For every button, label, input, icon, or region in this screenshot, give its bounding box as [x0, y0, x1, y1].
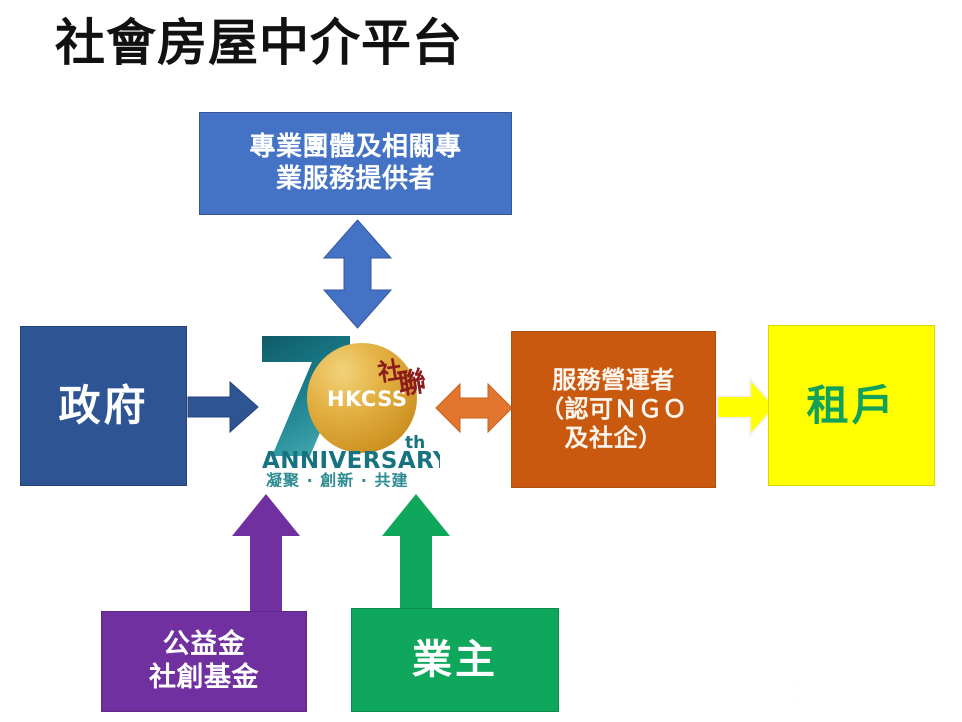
- node-professional-groups[interactable]: 專業團體及相關專 業服務提供者: [199, 112, 512, 215]
- node-service-operator[interactable]: 服務營運者 （認可ＮＧＯ 及社企）: [511, 331, 716, 488]
- arrow-funds-link: [230, 492, 302, 614]
- node-funds-text: 公益金 社創基金: [102, 629, 306, 695]
- node-government-text: 政府: [21, 380, 186, 431]
- node-tenants-label: 租戶: [775, 380, 928, 431]
- svg-text:聯: 聯: [396, 364, 429, 401]
- arrow-landlord-link: [380, 492, 452, 614]
- node-government-label: 政府: [27, 380, 180, 431]
- node-service-operator-line-3: 及社企）: [518, 424, 709, 453]
- node-landlords-text: 業主: [352, 636, 558, 685]
- node-funds-line-2: 社創基金: [108, 662, 300, 695]
- node-service-operator-text: 服務營運者 （認可ＮＧＯ 及社企）: [512, 366, 715, 454]
- node-landlords[interactable]: 業主: [351, 608, 559, 712]
- node-government[interactable]: 政府: [20, 326, 187, 486]
- watermark-am730: am730: [783, 664, 956, 720]
- node-tenants[interactable]: 租戶: [768, 325, 935, 486]
- diagram-canvas: 社會房屋中介平台 專業團體及相關專 業服務提供者 政府: [0, 0, 962, 722]
- node-service-operator-line-2: （認可ＮＧＯ: [518, 395, 709, 424]
- node-tenants-text: 租戶: [769, 380, 934, 431]
- hkcss-70th-anniversary-logo: HKCSS 社 聯 th ANNIVERSARY 凝聚 · 創新 · 共建: [254, 332, 440, 487]
- node-landlords-label: 業主: [358, 636, 552, 685]
- node-professional-groups-line-2: 業服務提供者: [206, 164, 505, 196]
- logo-slogan: 凝聚 · 創新 · 共建: [266, 471, 408, 487]
- arrow-operator-link: [434, 380, 514, 436]
- node-professional-groups-line-1: 專業團體及相關專: [206, 132, 505, 164]
- node-funds[interactable]: 公益金 社創基金: [101, 611, 307, 712]
- node-funds-line-1: 公益金: [108, 629, 300, 662]
- node-professional-groups-text: 專業團體及相關專 業服務提供者: [200, 132, 511, 195]
- page-title: 社會房屋中介平台: [55, 16, 463, 71]
- arrow-professional-groups-link: [305, 218, 410, 330]
- node-service-operator-line-1: 服務營運者: [518, 366, 709, 395]
- arrow-government-link: [186, 380, 260, 434]
- logo-acronym-hkcss: HKCSS: [327, 387, 408, 411]
